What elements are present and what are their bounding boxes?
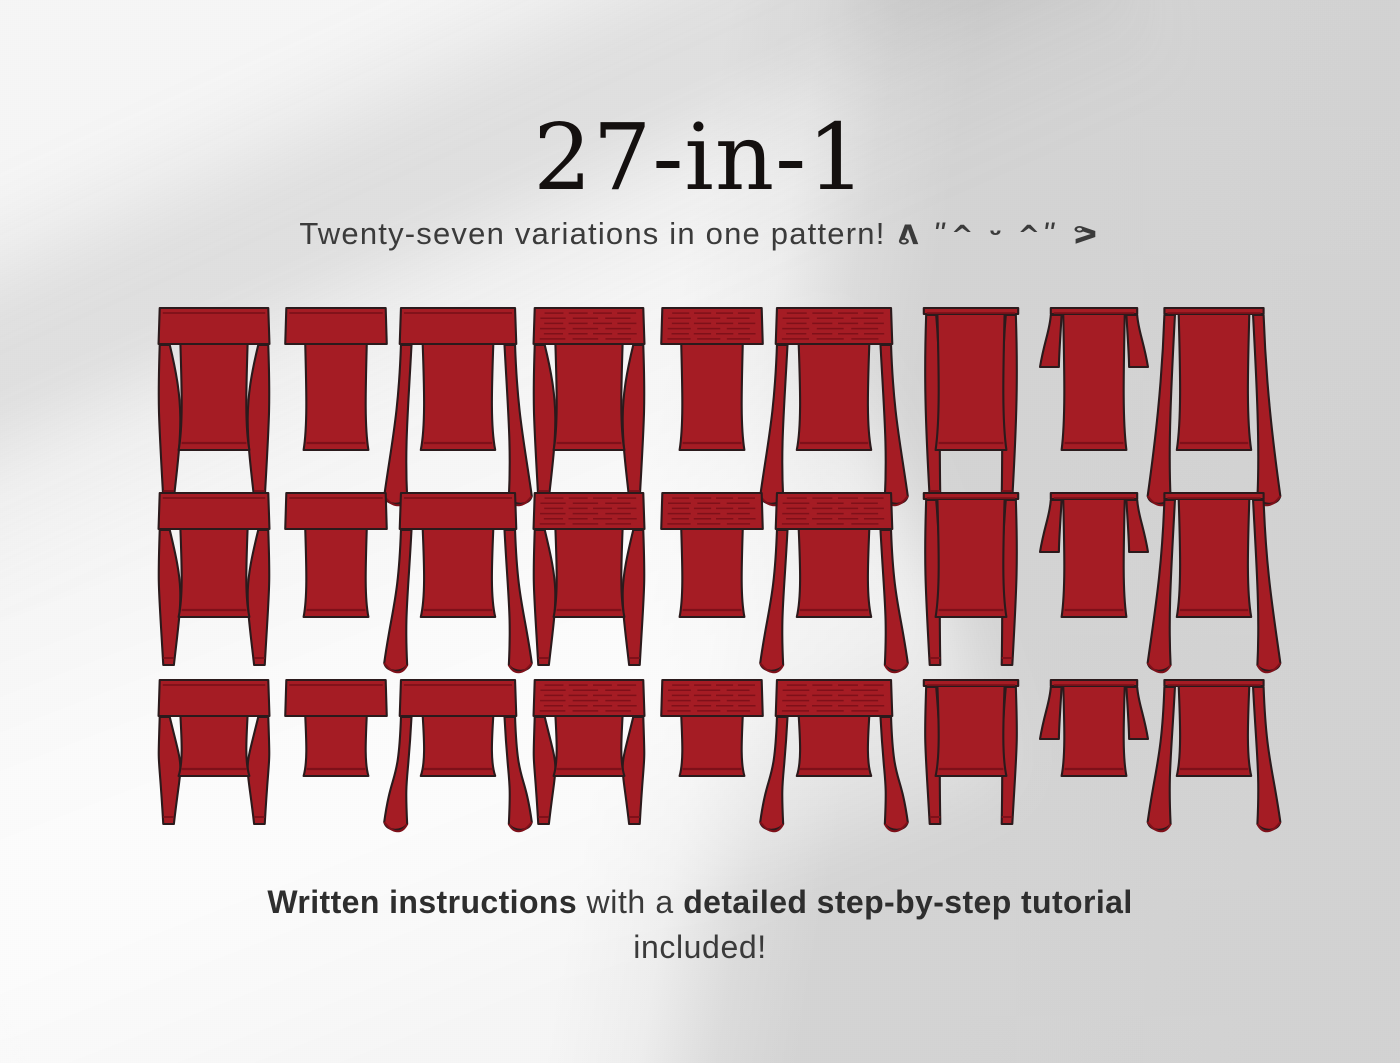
subtitle-text: Twenty-seven variations in one pattern! xyxy=(299,216,885,251)
subtitle: Twenty-seven variations in one pattern!ᕕ… xyxy=(0,216,1400,252)
garment-variation-r3-c3 xyxy=(396,672,520,892)
garment-variation-r3-c7 xyxy=(912,672,1030,892)
footer-text-block: Written instructions with a detailed ste… xyxy=(60,880,1340,971)
kaomoji-emoticon: ᕕ ʺ^ ᵕ ^ʺ ᕗ xyxy=(898,220,1101,251)
footer-included-line: included! xyxy=(60,925,1340,970)
footer-bold-tutorial: detailed step-by-step tutorial xyxy=(683,884,1132,920)
footer-regular-with-a: with a xyxy=(577,884,683,920)
garment-variation-r3-c2 xyxy=(282,672,390,892)
footer-bold-written-instructions: Written instructions xyxy=(267,884,577,920)
poster-canvas: 27-in-1 Twenty-seven variations in one p… xyxy=(0,0,1400,1063)
garment-variation-r3-c4 xyxy=(530,672,648,892)
garment-variation-r3-c9 xyxy=(1152,672,1276,892)
garment-variation-r3-c8 xyxy=(1040,672,1148,892)
garment-variation-r3-c6 xyxy=(772,672,896,892)
page-title: 27-in-1 xyxy=(0,112,1400,204)
garment-variation-r3-c1 xyxy=(155,672,273,892)
garment-variation-r3-c5 xyxy=(658,672,766,892)
